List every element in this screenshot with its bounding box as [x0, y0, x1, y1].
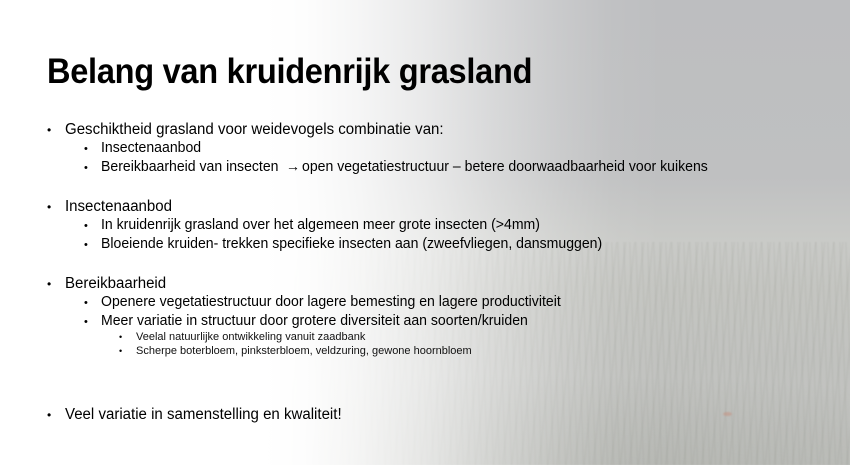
slide: Belang van kruidenrijk grasland • Geschi…	[0, 0, 850, 465]
bullet-dot-icon: •	[84, 220, 101, 232]
bullet-dot-icon: •	[119, 346, 136, 356]
bullet-dot-icon: •	[47, 200, 65, 214]
bullet-text-after-arrow: open vegetatiestructuur – betere doorwaa…	[302, 159, 708, 175]
bullet-dot-icon: •	[84, 239, 101, 251]
slide-content: Belang van kruidenrijk grasland • Geschi…	[0, 0, 850, 465]
bullet-item-level1: • Veel variatie in samenstelling en kwal…	[47, 406, 837, 425]
bullet-dot-icon: •	[84, 316, 101, 328]
bullet-dot-icon: •	[119, 332, 136, 342]
section-spacer	[47, 254, 837, 275]
bullet-text: Scherpe boterbloem, pinksterbloem, veldz…	[136, 345, 472, 357]
bullet-text: Veelal natuurlijke ontwikkeling vanuit z…	[136, 331, 365, 343]
bullet-list: • Geschiktheid grasland voor weidevogels…	[47, 121, 837, 425]
bullet-text: Bereikbaarheid	[65, 275, 166, 293]
bullet-text: Insectenaanbod	[65, 198, 172, 216]
bullet-text: Bloeiende kruiden- trekken specifieke in…	[101, 236, 602, 252]
bullet-item-level1: • Bereikbaarheid	[47, 275, 837, 294]
section-spacer	[47, 359, 837, 406]
bullet-text: Meer variatie in structuur door grotere …	[101, 313, 528, 329]
bullet-dot-icon: •	[84, 143, 101, 155]
bullet-dot-icon: •	[47, 277, 65, 291]
bullet-item-level1: • Geschiktheid grasland voor weidevogels…	[47, 121, 837, 140]
section-spacer	[47, 177, 837, 198]
bullet-item-level3: • Veelal natuurlijke ontwikkeling vanuit…	[47, 331, 837, 345]
bullet-dot-icon: •	[47, 408, 65, 422]
bullet-text-before-arrow: Bereikbaarheid van insecten	[101, 159, 278, 175]
bullet-dot-icon: •	[47, 123, 65, 137]
bullet-dot-icon: •	[84, 297, 101, 309]
bullet-dot-icon: •	[84, 162, 101, 174]
bullet-item-level3: • Scherpe boterbloem, pinksterbloem, vel…	[47, 345, 837, 359]
right-arrow-icon: →	[284, 159, 302, 175]
slide-title: Belang van kruidenrijk grasland	[47, 52, 532, 92]
bullet-item-level2: • Bereikbaarheid van insecten → open veg…	[47, 159, 837, 178]
bullet-text: In kruidenrijk grasland over het algemee…	[101, 217, 540, 233]
bullet-item-level2: • Openere vegetatiestructuur door lagere…	[47, 294, 837, 313]
bullet-item-level1: • Insectenaanbod	[47, 198, 837, 217]
bullet-item-level2: • Meer variatie in structuur door groter…	[47, 313, 837, 332]
bullet-item-level2: • Insectenaanbod	[47, 140, 837, 159]
bullet-item-level2: • Bloeiende kruiden- trekken specifieke …	[47, 236, 837, 255]
bullet-text: Openere vegetatiestructuur door lagere b…	[101, 294, 561, 310]
bullet-text: Geschiktheid grasland voor weidevogels c…	[65, 121, 444, 139]
bullet-text: Insectenaanbod	[101, 140, 201, 156]
bullet-text: Veel variatie in samenstelling en kwalit…	[65, 406, 342, 424]
bullet-item-level2: • In kruidenrijk grasland over het algem…	[47, 217, 837, 236]
